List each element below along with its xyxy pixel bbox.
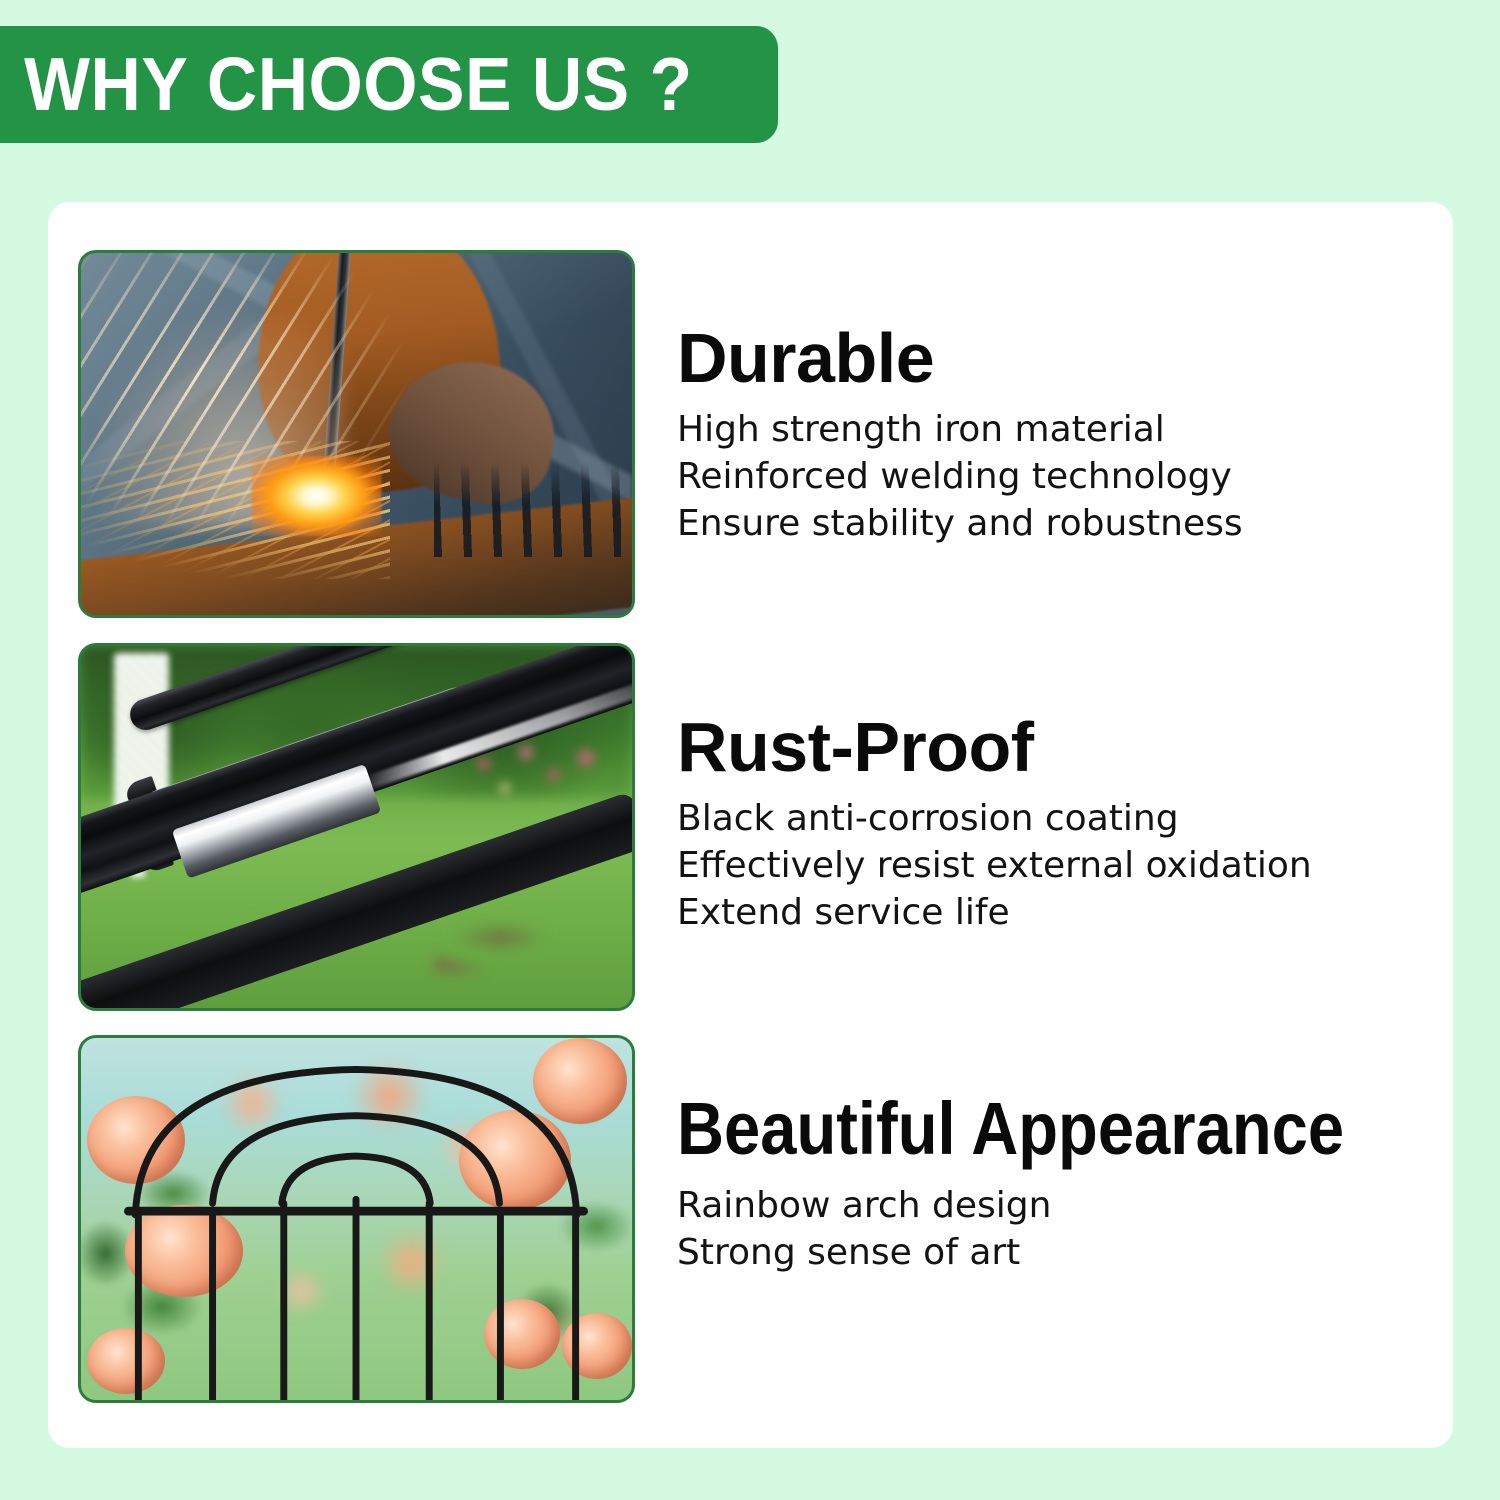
feature-line: High strength iron material — [677, 406, 1452, 453]
feature-text-block: Beautiful Appearance Rainbow arch design… — [677, 1035, 1452, 1276]
feature-line: Reinforced welding technology — [677, 453, 1452, 500]
feature-line-list: Black anti-corrosion coating Effectively… — [677, 795, 1452, 936]
black-coated-tubes-photo — [78, 643, 635, 1011]
feature-text-block: Durable High strength iron material Rein… — [677, 250, 1452, 547]
feature-line: Black anti-corrosion coating — [677, 795, 1452, 842]
welding-sparks-photo — [78, 250, 635, 618]
feature-line: Effectively resist external oxidation — [677, 842, 1452, 889]
features-card: Durable High strength iron material Rein… — [48, 202, 1453, 1448]
feature-text-block: Rust-Proof Black anti-corrosion coating … — [677, 643, 1452, 936]
feature-line: Ensure stability and robustness — [677, 500, 1452, 547]
feature-heading: Beautiful Appearance — [677, 1091, 1359, 1168]
feature-line: Extend service life — [677, 889, 1452, 936]
welding-arc-glow — [252, 456, 382, 536]
feature-line: Rainbow arch design — [677, 1182, 1452, 1229]
feature-heading: Durable — [677, 322, 1452, 395]
flying-sparks — [81, 253, 632, 615]
feature-line-list: Rainbow arch design Strong sense of art — [677, 1182, 1452, 1276]
fence-panel-graphic — [81, 1038, 632, 1400]
feature-line-list: High strength iron material Reinforced w… — [677, 406, 1452, 547]
feature-row: Rust-Proof Black anti-corrosion coating … — [78, 643, 1452, 1011]
why-choose-us-banner: WHY CHOOSE US ? — [0, 26, 778, 143]
feature-row: Durable High strength iron material Rein… — [78, 250, 1452, 618]
banner-title: WHY CHOOSE US ? — [0, 47, 693, 122]
feature-row: Beautiful Appearance Rainbow arch design… — [78, 1035, 1452, 1403]
feature-line: Strong sense of art — [677, 1229, 1452, 1276]
arch-garden-fence-photo — [78, 1035, 635, 1403]
arch-outer — [135, 1069, 576, 1215]
feature-heading: Rust-Proof — [677, 711, 1452, 784]
metal-debris — [434, 463, 621, 557]
